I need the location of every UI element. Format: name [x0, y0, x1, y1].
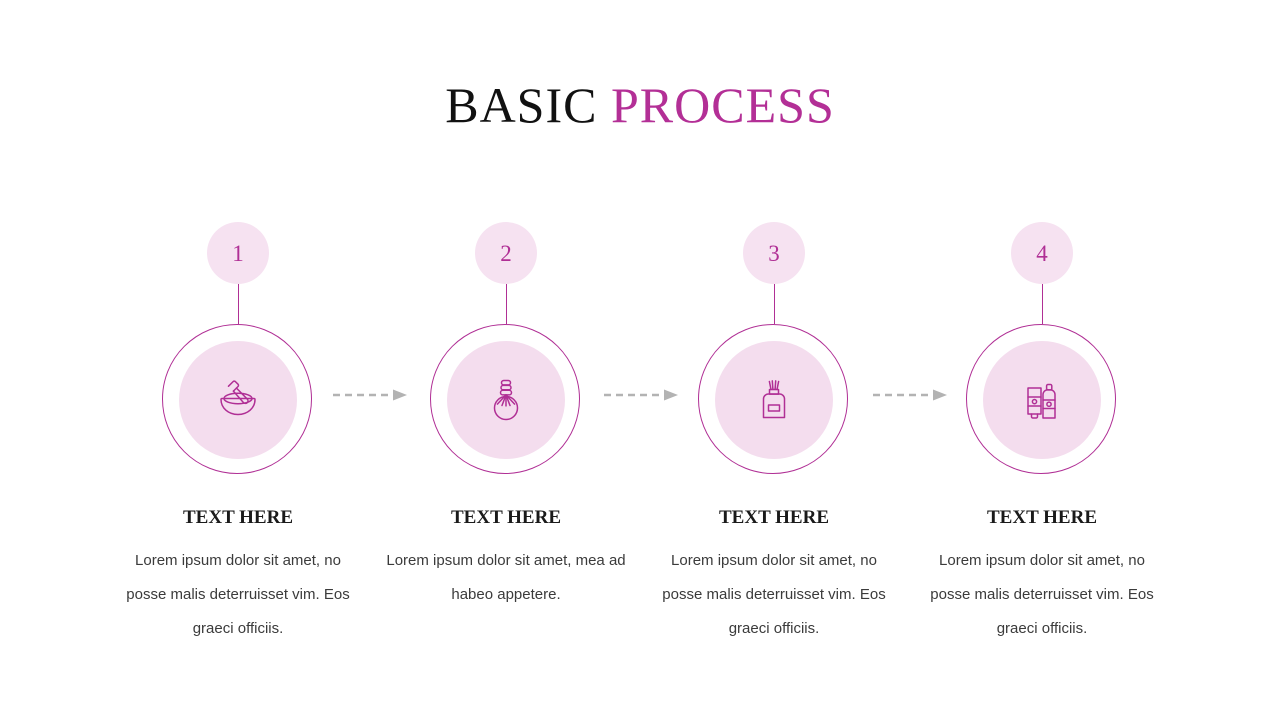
title-space [597, 77, 611, 133]
step-number-badge-4: 4 [1011, 222, 1073, 284]
step-connector-stem-4 [1042, 284, 1043, 324]
step-number-4: 4 [1036, 242, 1048, 265]
process-step-3[interactable]: 3 TEXT HERE [640, 222, 908, 645]
process-step-1[interactable]: 1 TEXT HERE Lorem ipsum dolor sit amet, … [104, 222, 372, 645]
step-connector-stem-3 [774, 284, 775, 324]
step-body-1: Lorem ipsum dolor sit amet, no posse mal… [113, 544, 363, 645]
process-step-4[interactable]: 4 [908, 222, 1176, 645]
step-body-4: Lorem ipsum dolor sit amet, no posse mal… [917, 544, 1167, 645]
step-icon-circle-2[interactable] [430, 324, 582, 476]
step-connector-stem-1 [238, 284, 239, 324]
herbal-compress-ball-icon [479, 373, 533, 427]
step-body-2: Lorem ipsum dolor sit amet, mea ad habeo… [381, 544, 631, 612]
step-number-badge-3: 3 [743, 222, 805, 284]
step-title-4: TEXT HERE [987, 507, 1097, 529]
step-number-1: 1 [232, 242, 244, 265]
page-title-part-1: BASIC [445, 77, 597, 133]
process-steps: 1 TEXT HERE Lorem ipsum dolor sit amet, … [104, 222, 1176, 645]
step-title-1: TEXT HERE [183, 507, 293, 529]
step-number-badge-1: 1 [207, 222, 269, 284]
step-number-badge-2: 2 [475, 222, 537, 284]
connector-arrow-1 [333, 389, 413, 401]
step-title-3: TEXT HERE [719, 507, 829, 529]
step-connector-stem-2 [506, 284, 507, 324]
step-title-2: TEXT HERE [451, 507, 561, 529]
step-icon-circle-1[interactable] [162, 324, 314, 476]
connector-arrow-2 [604, 389, 684, 401]
connector-arrow-3 [873, 389, 953, 401]
step-number-2: 2 [500, 242, 512, 265]
reed-diffuser-icon [747, 373, 801, 427]
page-title-part-2: PROCESS [611, 77, 835, 133]
process-step-2[interactable]: 2 [372, 222, 640, 612]
step-number-3: 3 [768, 242, 780, 265]
step-body-3: Lorem ipsum dolor sit amet, no posse mal… [649, 544, 899, 645]
slide-canvas: BASIC PROCESS 1 TEXT [0, 0, 1280, 720]
step-icon-circle-3[interactable] [698, 324, 850, 476]
page-title: BASIC PROCESS [0, 78, 1280, 133]
step-icon-circle-4[interactable] [966, 324, 1118, 476]
cosmetic-bottles-icon [1015, 373, 1069, 427]
mortar-and-pestle-icon [211, 373, 265, 427]
